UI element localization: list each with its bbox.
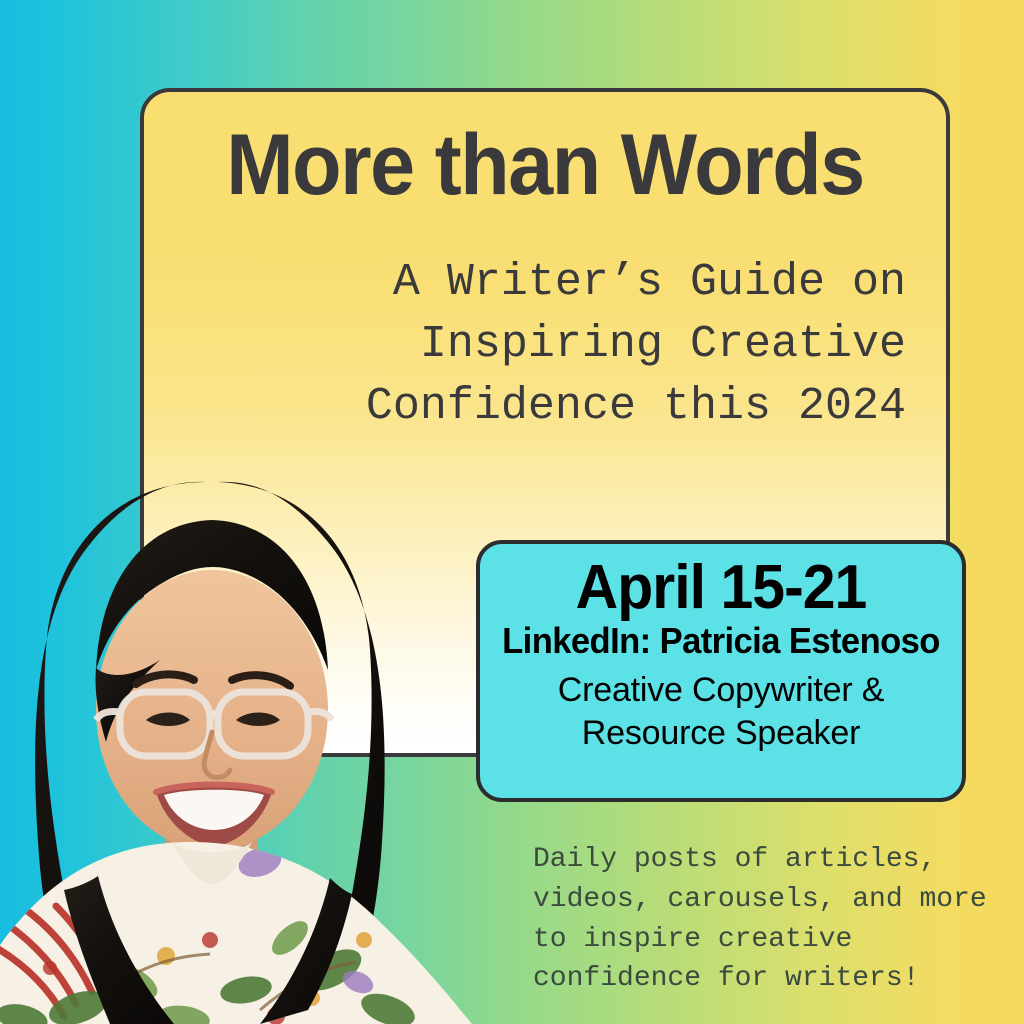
speaker-portrait (0, 470, 480, 1024)
bottom-description: Daily posts of articles, videos, carouse… (533, 840, 1003, 999)
poster-canvas: More than Words A Writer’s Guide on Insp… (0, 0, 1024, 1024)
page-title: More than Words (168, 122, 922, 208)
speaker-role: Creative Copywriter & Resource Speaker (480, 669, 962, 756)
page-subtitle: A Writer’s Guide on Inspiring Creative C… (306, 252, 906, 438)
event-info-card: April 15-21 LinkedIn: Patricia Estenoso … (476, 540, 966, 802)
event-date: April 15-21 (492, 556, 950, 620)
linkedin-handle: LinkedIn: Patricia Estenoso (490, 620, 953, 662)
